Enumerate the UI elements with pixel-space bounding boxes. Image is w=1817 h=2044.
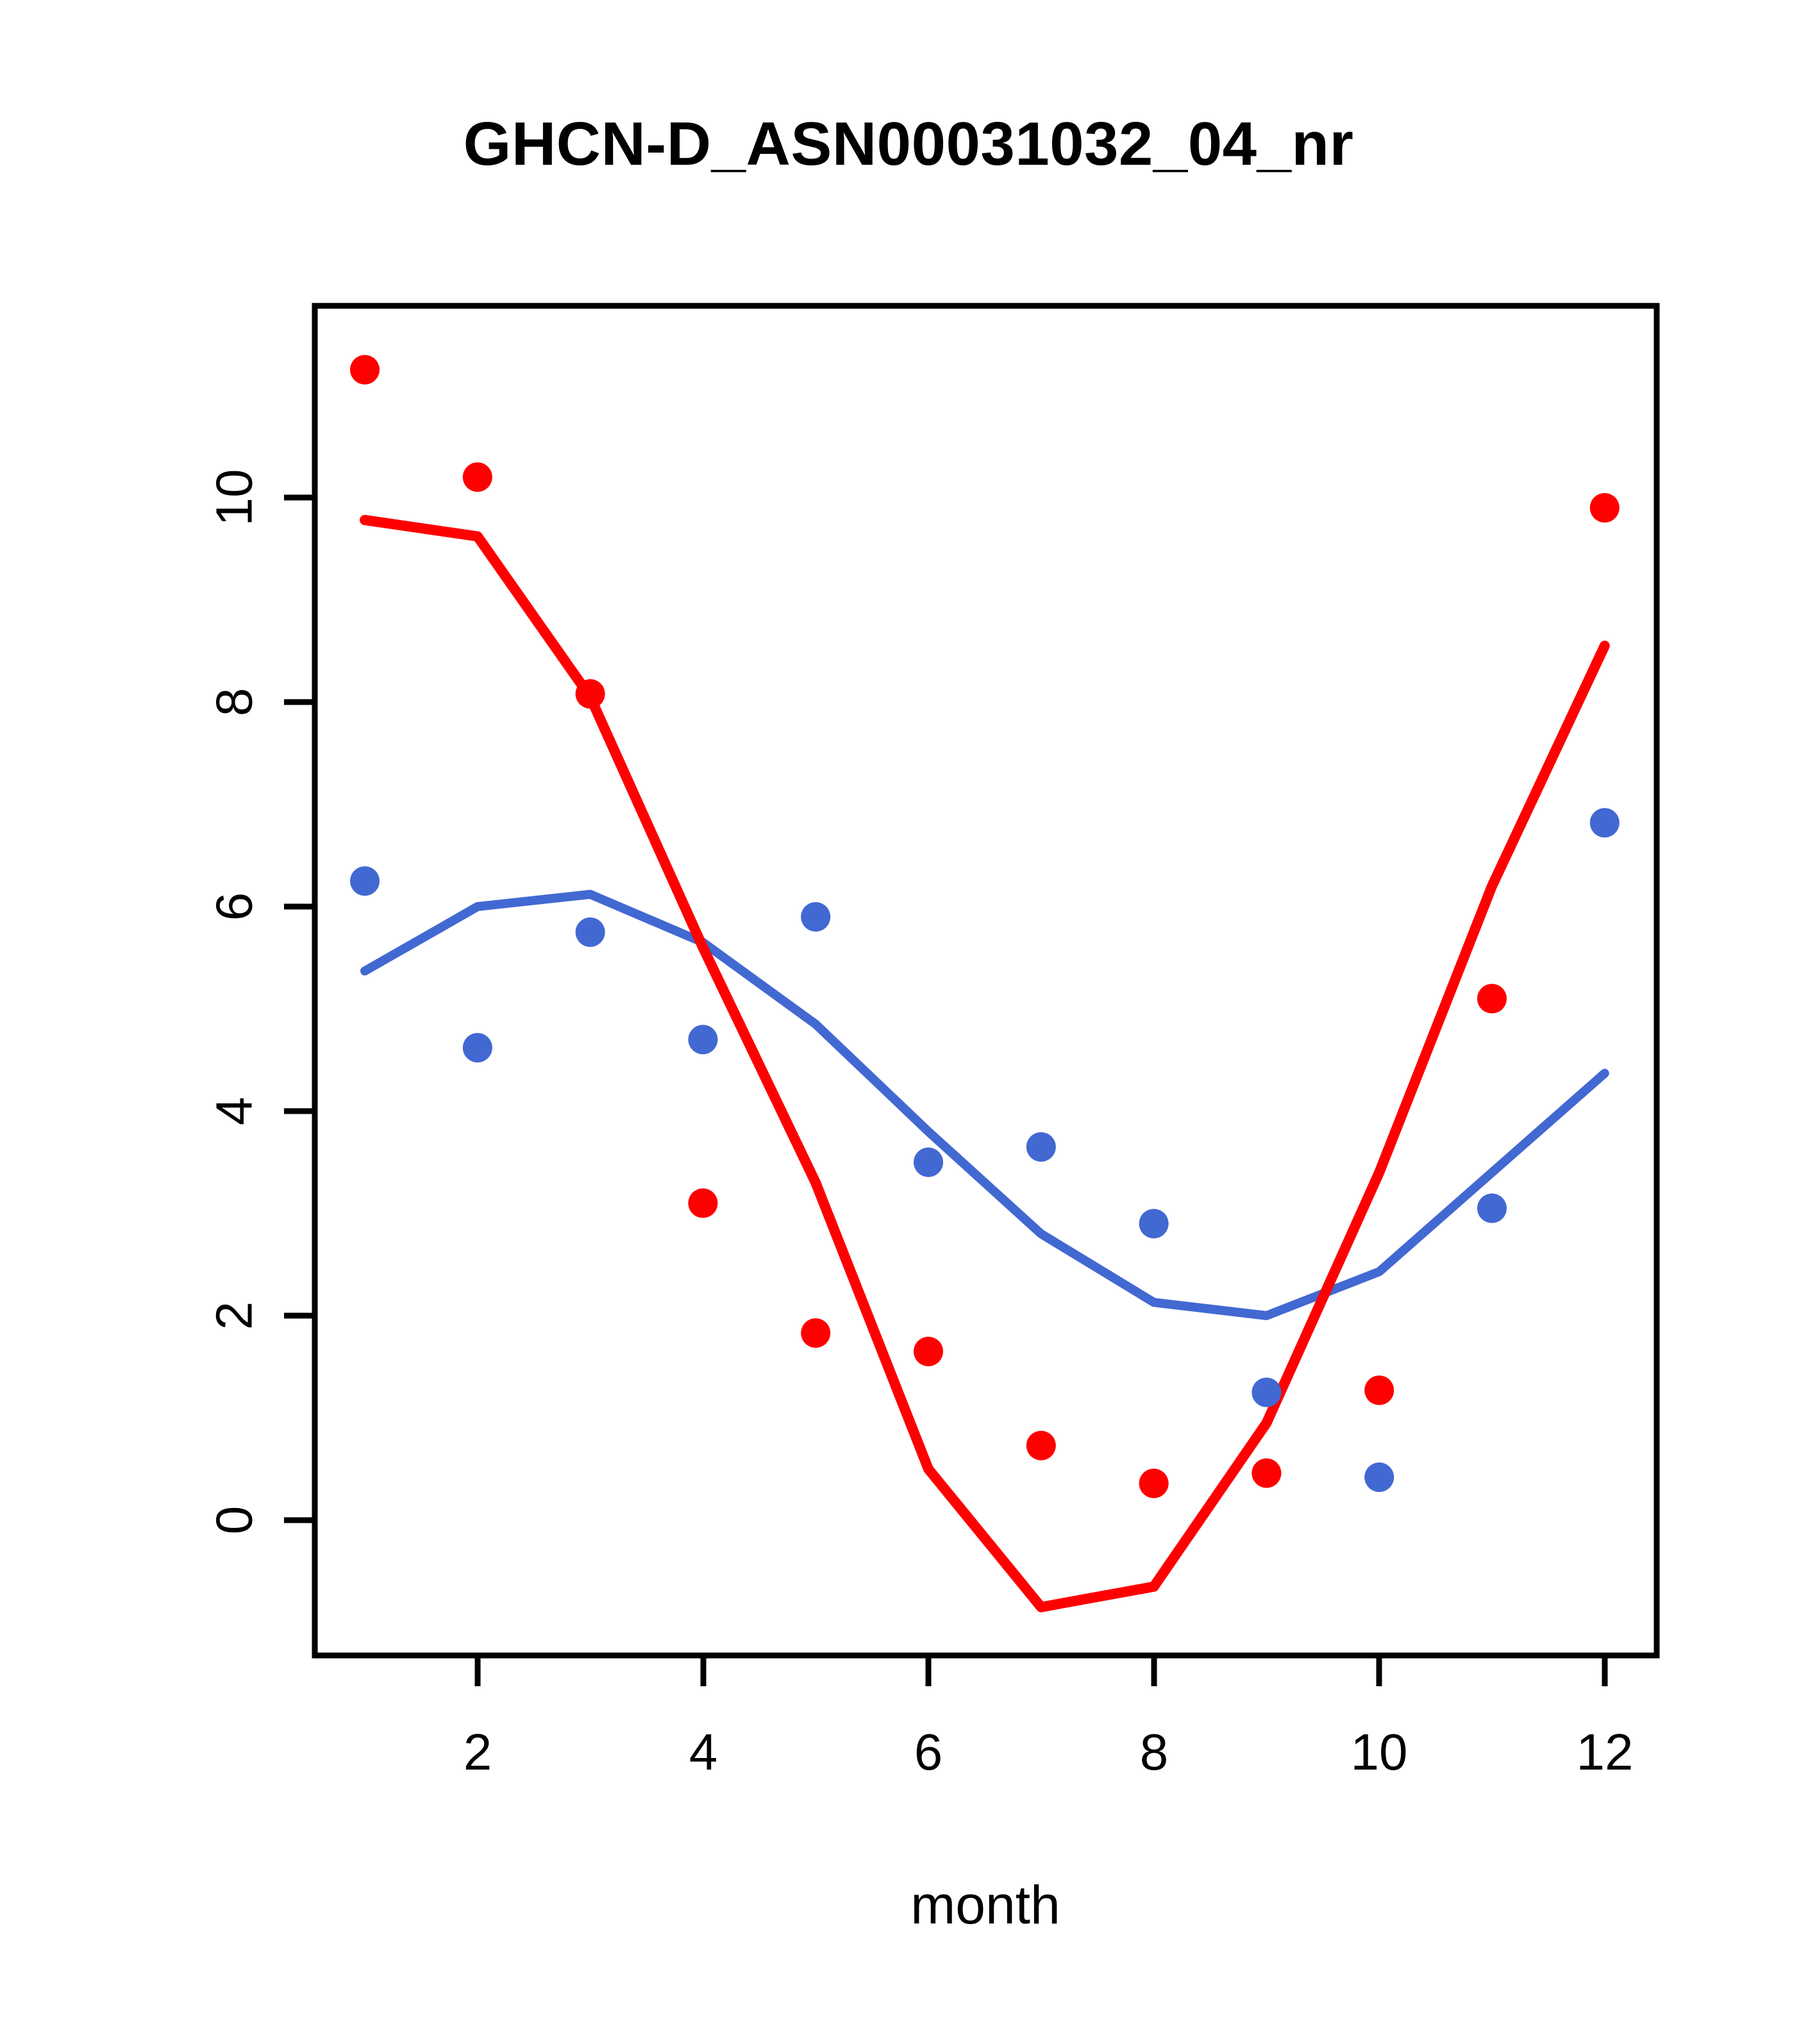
- data-point: [1364, 1375, 1394, 1405]
- chart-page: GHCN-D_ASN00031032_04_nr 0 2 4 6: [0, 0, 1817, 2044]
- x-tick-label: 6: [914, 1723, 943, 1780]
- data-point: [463, 1033, 492, 1062]
- y-axis-ticks: [284, 498, 315, 1520]
- data-point: [1252, 1459, 1281, 1488]
- red-data-points: [350, 355, 1620, 1498]
- y-tick-label: 4: [206, 1097, 263, 1126]
- data-point: [1252, 1378, 1281, 1407]
- y-axis-tick-labels: 0 2 4 6 8 10: [206, 469, 263, 1535]
- data-point: [688, 1189, 717, 1218]
- blue-data-points: [350, 808, 1620, 1492]
- data-point: [1026, 1132, 1056, 1162]
- red-trend-line: [365, 520, 1605, 1607]
- blue-trend-line: [365, 894, 1605, 1316]
- data-point: [1477, 984, 1507, 1014]
- x-axis-ticks: [478, 1655, 1605, 1686]
- y-tick-label: 6: [206, 892, 263, 921]
- data-point: [1477, 1194, 1507, 1223]
- x-axis-label: month: [910, 1875, 1060, 1935]
- x-tick-label: 2: [464, 1723, 492, 1780]
- data-point: [1139, 1469, 1169, 1498]
- y-tick-label: 2: [206, 1302, 263, 1330]
- x-tick-label: 8: [1140, 1723, 1169, 1780]
- x-tick-label: 12: [1577, 1723, 1634, 1780]
- data-point: [914, 1337, 943, 1366]
- data-point: [914, 1148, 943, 1177]
- x-tick-label: 4: [689, 1723, 718, 1780]
- data-point: [350, 355, 380, 385]
- data-point: [350, 866, 380, 896]
- data-point: [1590, 493, 1620, 523]
- data-point: [801, 1318, 830, 1348]
- data-point: [688, 1025, 717, 1054]
- data-point: [576, 679, 605, 708]
- y-tick-label: 10: [206, 469, 263, 526]
- blue-line: [365, 894, 1605, 1316]
- x-tick-label: 10: [1351, 1723, 1408, 1780]
- data-point: [576, 917, 605, 947]
- red-line: [365, 520, 1605, 1607]
- data-point: [1364, 1462, 1394, 1492]
- y-tick-label: 8: [206, 688, 263, 717]
- data-point: [463, 462, 492, 492]
- plot-area: 0 2 4 6 8 10 2 4 6 8 10 12 month: [0, 0, 1817, 2044]
- data-point: [801, 902, 830, 932]
- data-point: [1139, 1209, 1169, 1238]
- x-axis-tick-labels: 2 4 6 8 10 12: [464, 1723, 1634, 1780]
- data-point: [1590, 808, 1620, 837]
- data-point: [1026, 1431, 1056, 1461]
- y-tick-label: 0: [206, 1506, 263, 1535]
